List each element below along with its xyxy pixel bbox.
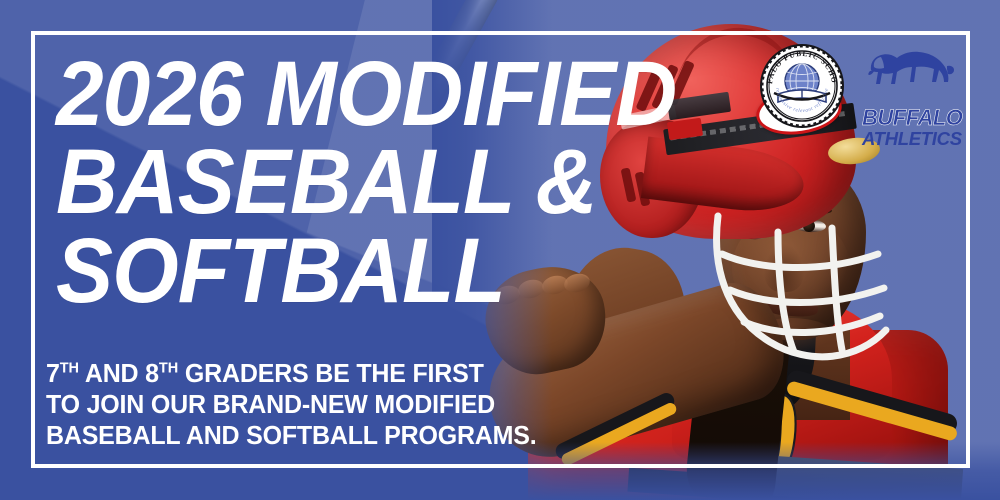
logo-group: BUFFALO PUBLIC SCHOOLS responsive releva…	[760, 44, 958, 149]
headline: 2026 MODIFIED BASEBALL & SOFTBALL	[56, 50, 723, 315]
subheadline-line-1: 7TH AND 8TH GRADERS BE THE FIRST	[46, 359, 537, 390]
subheadline-line-1-tail: GRADERS BE THE FIRST	[178, 360, 484, 388]
athletics-logo-line-1: BUFFALO	[862, 107, 958, 129]
headline-line-2: BASEBALL &	[56, 138, 676, 226]
promo-poster: 10 R	[0, 0, 1000, 500]
bison-icon	[862, 44, 958, 106]
subheadline: 7TH AND 8TH GRADERS BE THE FIRST TO JOIN…	[46, 359, 537, 452]
ordinal-suffix-th-2: TH	[159, 361, 178, 377]
buffalo-athletics-logo: BUFFALO ATHLETICS	[862, 44, 958, 149]
subheadline-conjunction: AND 8	[79, 360, 159, 388]
subheadline-grade-7: 7	[46, 360, 60, 388]
headline-line-1: 2026 MODIFIED	[56, 50, 676, 138]
athletics-logo-line-2: ATHLETICS	[862, 130, 958, 149]
headline-line-3: SOFTBALL	[56, 227, 676, 315]
buffalo-public-schools-seal: BUFFALO PUBLIC SCHOOLS responsive releva…	[760, 44, 844, 128]
subheadline-line-2: TO JOIN OUR BRAND-NEW MODIFIED	[46, 390, 537, 421]
ordinal-suffix-th-1: TH	[60, 361, 79, 377]
subheadline-line-3: BASEBALL AND SOFTBALL PROGRAMS.	[46, 421, 537, 452]
